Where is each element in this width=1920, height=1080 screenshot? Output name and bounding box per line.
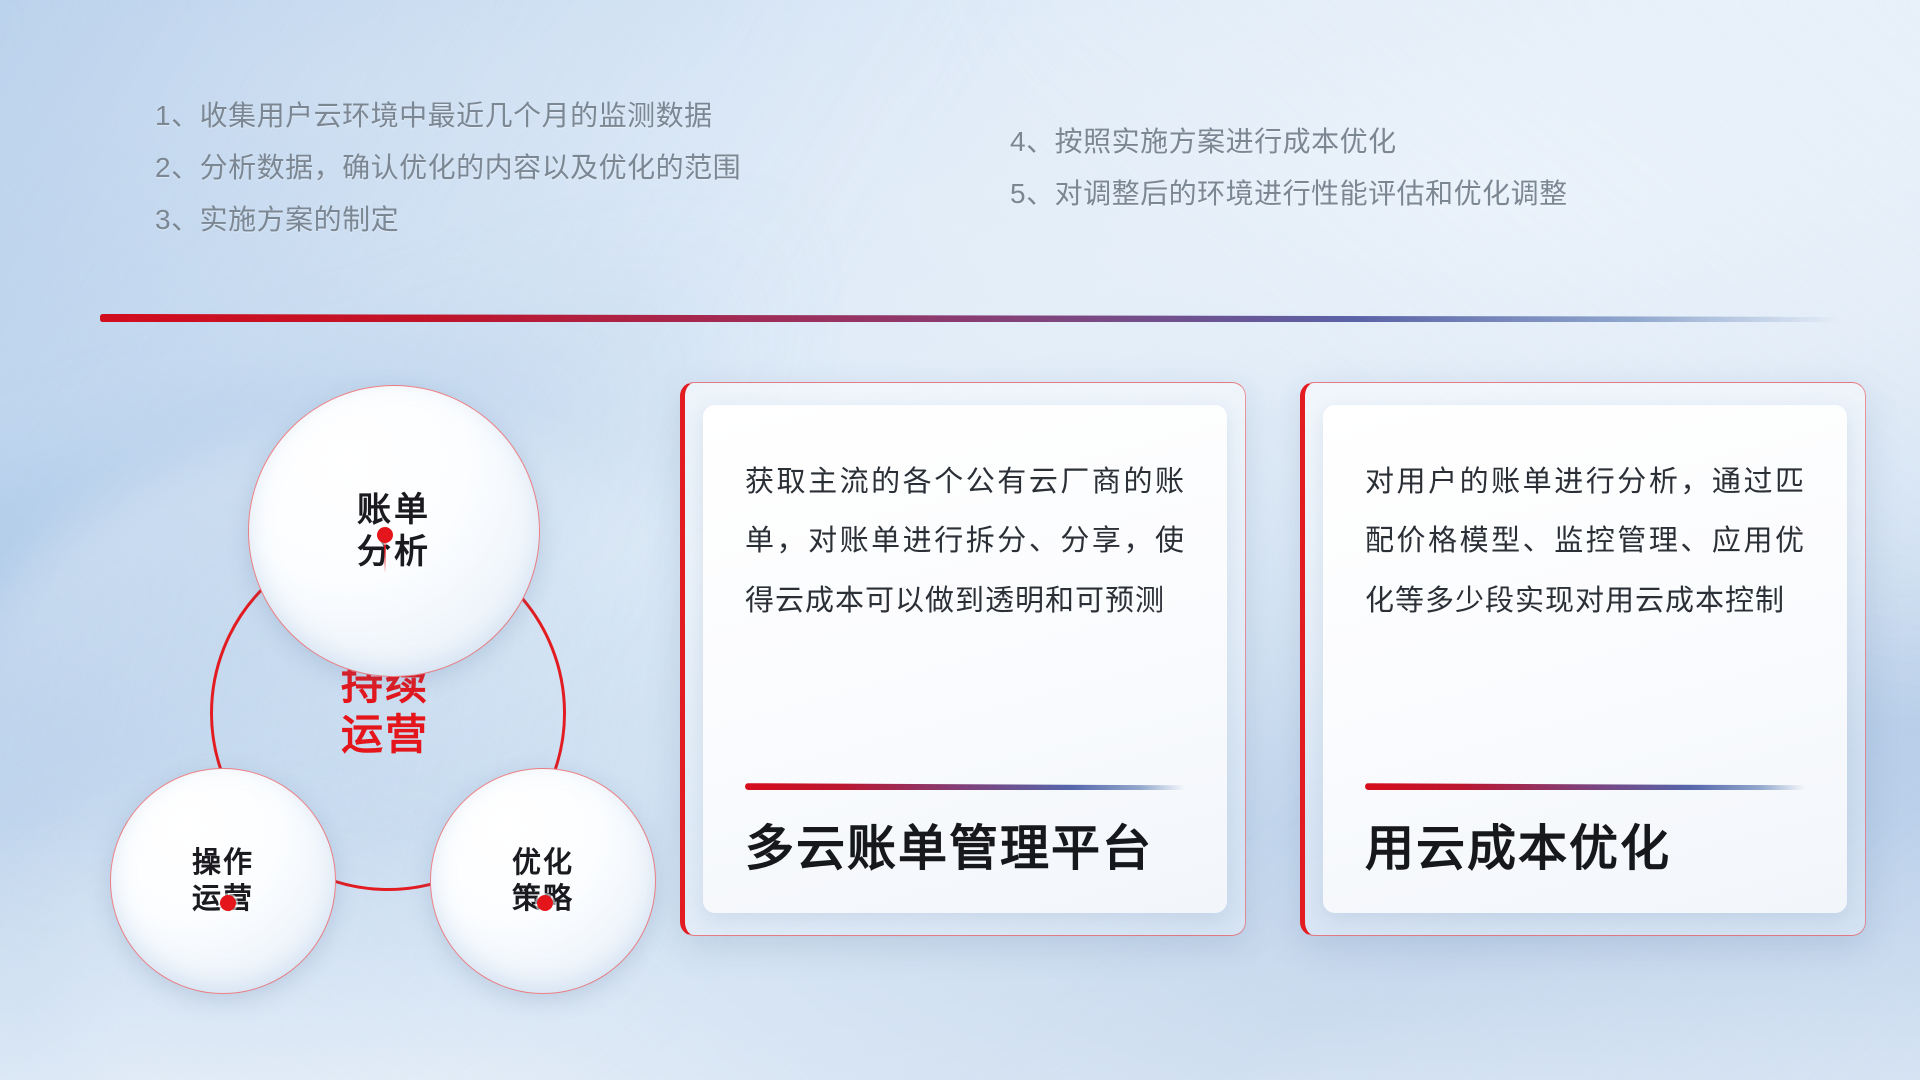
bubble-label-line1: 账单 bbox=[357, 489, 431, 532]
continuous-operations-diagram: 持续 运营 账单 分析 操作 运营 优化 策略 bbox=[100, 350, 620, 950]
card-body-text: 对用户的账单进行分析，通过匹配价格模型、监控管理、应用优化等多少段实现对用云成本… bbox=[1365, 453, 1805, 631]
diagram-node-dot-bottom-left bbox=[220, 895, 236, 911]
diagram-bubble-optimization-strategy[interactable]: 优化 策略 bbox=[430, 768, 656, 994]
diagram-connector-top bbox=[384, 543, 386, 573]
diagram-node-dot-bottom-right bbox=[537, 895, 553, 911]
card-cloud-cost-optimization[interactable]: 对用户的账单进行分析，通过匹配价格模型、监控管理、应用优化等多少段实现对用云成本… bbox=[1300, 382, 1866, 936]
card-inner-panel: 对用户的账单进行分析，通过匹配价格模型、监控管理、应用优化等多少段实现对用云成本… bbox=[1323, 405, 1847, 913]
bubble-label-line1: 优化 bbox=[512, 845, 574, 881]
card-accent-rule bbox=[1365, 783, 1805, 790]
step-item-3: 3、实施方案的制定 bbox=[155, 198, 399, 238]
diagram-node-dot-top bbox=[377, 527, 393, 543]
step-item-1: 1、收集用户云环境中最近几个月的监测数据 bbox=[155, 94, 713, 134]
cards-section: 获取主流的各个公有云厂商的账单，对账单进行拆分、分享，使得云成本可以做到透明和可… bbox=[680, 382, 1870, 942]
card-title: 用云成本优化 bbox=[1365, 820, 1805, 879]
bubble-label-line1: 操作 bbox=[192, 845, 254, 881]
diagram-bubble-operations[interactable]: 操作 运营 bbox=[110, 768, 336, 994]
card-body-text: 获取主流的各个公有云厂商的账单，对账单进行拆分、分享，使得云成本可以做到透明和可… bbox=[745, 453, 1185, 631]
step-item-4: 4、按照实施方案进行成本优化 bbox=[1010, 120, 1397, 160]
card-accent-rule bbox=[745, 783, 1185, 790]
diagram-bubble-bill-analysis[interactable]: 账单 分析 bbox=[248, 385, 540, 677]
card-title: 多云账单管理平台 bbox=[745, 820, 1185, 879]
diagram-center-label-line2: 运营 bbox=[341, 710, 429, 760]
steps-section: 1、收集用户云环境中最近几个月的监测数据 2、分析数据，确认优化的内容以及优化的… bbox=[0, 94, 1920, 254]
card-multicloud-billing-platform[interactable]: 获取主流的各个公有云厂商的账单，对账单进行拆分、分享，使得云成本可以做到透明和可… bbox=[680, 382, 1246, 936]
bubble-label-line2: 分析 bbox=[357, 531, 431, 574]
card-inner-panel: 获取主流的各个公有云厂商的账单，对账单进行拆分、分享，使得云成本可以做到透明和可… bbox=[703, 405, 1227, 913]
step-item-5: 5、对调整后的环境进行性能评估和优化调整 bbox=[1010, 172, 1568, 212]
step-item-2: 2、分析数据，确认优化的内容以及优化的范围 bbox=[155, 146, 741, 186]
